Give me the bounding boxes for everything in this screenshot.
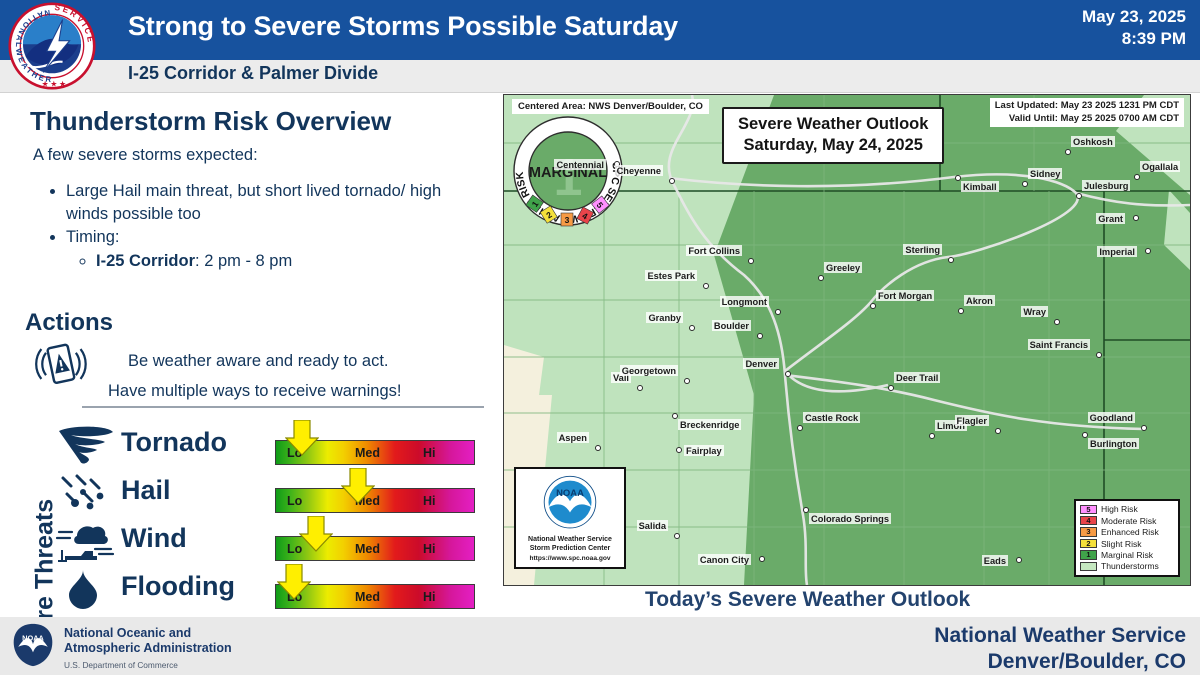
map-title-line1: Severe Weather Outlook — [738, 114, 928, 135]
city-label: Denver — [743, 358, 779, 369]
legend-label: Marginal Risk — [1101, 550, 1153, 560]
city-label: Centennial — [554, 159, 606, 170]
city-label: Akron — [964, 295, 995, 306]
bullet-text: : 2 pm - 8 pm — [195, 252, 292, 270]
threat-level-arrow — [285, 420, 319, 456]
office-line-2: Denver/Boulder, CO — [934, 649, 1186, 675]
last-updated-text: Last Updated: May 23 2025 1231 PM CDT — [995, 100, 1179, 113]
city-dot-icon — [637, 385, 643, 391]
threat-row-flooding: Flooding Lo Med Hi — [55, 568, 485, 612]
threat-scale: Lo Med Hi — [275, 478, 475, 511]
city-dot-icon — [1054, 319, 1060, 325]
city-label: Georgetown — [620, 365, 678, 376]
agency-subline: U.S. Department of Commerce — [64, 658, 232, 673]
city-label: Kimball — [961, 181, 999, 192]
legend-row: 5High Risk — [1080, 504, 1174, 515]
map-title-box: Severe Weather Outlook Saturday, May 24,… — [722, 107, 944, 164]
overview-bullet-list: Large Hail main threat, but short lived … — [44, 180, 484, 273]
overview-lead: A few severe storms expected: — [33, 146, 258, 165]
scale-tick-med: Med — [355, 590, 380, 604]
city-label: Salida — [637, 520, 668, 531]
city-label: Sidney — [1028, 168, 1062, 179]
legend-swatch: 3 — [1080, 527, 1097, 537]
city-label: Burlington — [1088, 438, 1139, 449]
scale-tick-hi: Hi — [423, 542, 436, 556]
city-label: Oshkosh — [1071, 136, 1115, 147]
city-label: Imperial — [1097, 246, 1137, 257]
city-dot-icon — [748, 258, 754, 264]
stamp-date: May 23, 2025 — [1082, 6, 1186, 28]
legend-label: Thunderstorms — [1101, 561, 1159, 571]
legend-label: Moderate Risk — [1101, 516, 1156, 526]
city-label: Goodland — [1088, 412, 1135, 423]
threat-level-arrow — [341, 468, 375, 504]
legend-swatch: 4 — [1080, 516, 1097, 526]
overview-heading: Thunderstorm Risk Overview — [30, 106, 391, 137]
city-dot-icon — [669, 178, 675, 184]
legend-label: Enhanced Risk — [1101, 527, 1159, 537]
threat-row-wind: Wind Lo Med Hi — [55, 520, 485, 564]
city-label: Granby — [646, 312, 683, 323]
threat-row-hail: Hail Lo Med Hi — [55, 472, 485, 516]
divider — [82, 406, 484, 408]
city-dot-icon — [1096, 352, 1102, 358]
city-label: Sterling — [903, 244, 942, 255]
scale-tick-hi: Hi — [423, 494, 436, 508]
threat-name: Flooding — [121, 571, 235, 602]
city-dot-icon — [1145, 248, 1151, 254]
scale-tick-lo: Lo — [287, 494, 302, 508]
city-dot-icon — [995, 428, 1001, 434]
city-dot-icon — [1133, 215, 1139, 221]
city-label: Fort Morgan — [876, 290, 934, 301]
noaa-seal-icon: NOAA — [10, 622, 56, 668]
city-label: Ogallala — [1140, 161, 1180, 172]
bullet-text: Timing: — [66, 228, 119, 246]
city-label: Breckenridge — [678, 419, 741, 430]
city-label: Colorado Springs — [809, 513, 891, 524]
legend-label: Slight Risk — [1101, 539, 1142, 549]
legend-row: 2Slight Risk — [1080, 538, 1174, 549]
city-dot-icon — [929, 433, 935, 439]
city-label: Fairplay — [684, 445, 724, 456]
city-dot-icon — [689, 325, 695, 331]
map-caption: Today’s Severe Weather Outlook — [645, 588, 970, 612]
city-dot-icon — [1065, 149, 1071, 155]
city-label: Aspen — [557, 432, 589, 443]
legend-label: High Risk — [1101, 504, 1138, 514]
list-item: Timing: — [66, 226, 484, 249]
stamp-time: 8:39 PM — [1082, 28, 1186, 50]
city-dot-icon — [674, 533, 680, 539]
threat-row-tornado: Tornado Lo Med Hi — [55, 424, 485, 468]
city-dot-icon — [1022, 181, 1028, 187]
page-subtitle: I-25 Corridor & Palmer Divide — [128, 63, 378, 84]
city-label: Canon City — [698, 554, 751, 565]
city-dot-icon — [1134, 174, 1140, 180]
bullet-text: Large Hail main threat, but short lived … — [66, 182, 441, 223]
city-dot-icon — [676, 447, 682, 453]
tornado-icon — [55, 424, 117, 466]
threat-scale: Lo Med Hi — [275, 574, 475, 607]
spc-line1: National Weather Service — [516, 535, 624, 545]
threat-name: Wind — [121, 523, 187, 554]
city-dot-icon — [1016, 557, 1022, 563]
scale-tick-hi: Hi — [423, 446, 436, 460]
map-centered-note: Centered Area: NWS Denver/Boulder, CO — [512, 99, 709, 114]
spc-url: https://www.spc.noaa.gov — [516, 554, 624, 564]
city-dot-icon — [958, 308, 964, 314]
legend-row: 4Moderate Risk — [1080, 515, 1174, 526]
city-dot-icon — [703, 283, 709, 289]
svg-text:★: ★ — [50, 79, 57, 88]
timestamp: May 23, 2025 8:39 PM — [1082, 6, 1186, 50]
city-label: Longmont — [720, 296, 769, 307]
city-label: Castle Rock — [803, 412, 860, 423]
list-item: Large Hail main threat, but short lived … — [66, 180, 484, 226]
threat-scale: Lo Med Hi — [275, 526, 475, 559]
action-text-1: Be weather aware and ready to act. — [128, 352, 389, 371]
threat-name: Tornado — [121, 427, 227, 458]
threat-level-arrow — [277, 564, 311, 600]
city-label: Wray — [1021, 306, 1048, 317]
map-title-line2: Saturday, May 24, 2025 — [738, 135, 928, 156]
legend-swatch — [1080, 562, 1097, 572]
city-label: Estes Park — [645, 270, 697, 281]
scale-tick-med: Med — [355, 446, 380, 460]
city-label: Flagler — [955, 415, 989, 426]
city-dot-icon — [818, 275, 824, 281]
hail-icon — [55, 472, 117, 514]
svg-text:★: ★ — [59, 79, 66, 88]
legend-row: 3Enhanced Risk — [1080, 526, 1174, 537]
nws-roundel-icon: S E R V I C E N A T I O N A L W E A T H … — [8, 2, 96, 90]
city-dot-icon — [797, 425, 803, 431]
city-label: Fort Collins — [686, 245, 742, 256]
legend-swatch: 1 — [1080, 550, 1097, 560]
legend-row: 1Marginal Risk — [1080, 549, 1174, 560]
legend-row: Thunderstorms — [1080, 561, 1174, 572]
actions-heading: Actions — [25, 309, 113, 337]
bullet-bold: I-25 Corridor — [96, 252, 195, 270]
action-text-2: Have multiple ways to receive warnings! — [108, 382, 401, 401]
city-dot-icon — [785, 371, 791, 377]
city-dot-icon — [888, 385, 894, 391]
noaa-agency-text: National Oceanic and Atmospheric Adminis… — [64, 626, 232, 673]
water-drop-icon — [55, 568, 117, 610]
city-dot-icon — [595, 445, 601, 451]
scale-tick-med: Med — [355, 542, 380, 556]
severe-weather-outlook-map[interactable]: Centered Area: NWS Denver/Boulder, CO La… — [503, 94, 1191, 586]
spc-noaa-box: NOAA National Weather Service Storm Pred… — [514, 467, 626, 569]
city-label: Deer Trail — [894, 372, 940, 383]
list-item: I-25 Corridor: 2 pm - 8 pm — [96, 250, 484, 273]
noaa-seal-icon: NOAA — [527, 472, 613, 534]
office-line-1: National Weather Service — [934, 623, 1186, 649]
svg-text:NOAA: NOAA — [22, 633, 44, 642]
scale-tick-hi: Hi — [423, 590, 436, 604]
city-label: Eads — [982, 555, 1008, 566]
left-panel: Thunderstorm Risk Overview A few severe … — [0, 94, 500, 614]
spc-line2: Storm Prediction Center — [516, 544, 624, 554]
svg-text:NOAA: NOAA — [556, 488, 584, 499]
city-dot-icon — [775, 309, 781, 315]
map-updated-block: Last Updated: May 23 2025 1231 PM CDT Va… — [990, 98, 1184, 127]
issuing-office: National Weather Service Denver/Boulder,… — [934, 623, 1186, 675]
city-label: Saint Francis — [1028, 339, 1090, 350]
threat-scale: Lo Med Hi — [275, 430, 475, 463]
city-label: Boulder — [712, 320, 751, 331]
page-title: Strong to Severe Storms Possible Saturda… — [128, 11, 678, 42]
map-legend: 5High Risk4Moderate Risk3Enhanced Risk2S… — [1074, 499, 1180, 577]
svg-text:★: ★ — [41, 79, 48, 88]
city-dot-icon — [1076, 193, 1082, 199]
agency-line-2: Atmospheric Administration — [64, 641, 232, 656]
spc-risk-badge: 1 SPC SEVERE WEATHER RISK MARGINAL 1 2 3… — [512, 115, 624, 227]
city-label: Cheyenne — [615, 165, 663, 176]
city-dot-icon — [759, 556, 765, 562]
city-dot-icon — [870, 303, 876, 309]
svg-text:3: 3 — [565, 215, 570, 225]
wind-icon — [55, 520, 117, 562]
valid-until-text: Valid Until: May 25 2025 0700 AM CDT — [995, 113, 1179, 126]
legend-swatch: 5 — [1080, 505, 1097, 515]
city-label: Julesburg — [1082, 180, 1130, 191]
legend-swatch: 2 — [1080, 539, 1097, 549]
city-dot-icon — [757, 333, 763, 339]
city-dot-icon — [1141, 425, 1147, 431]
threat-level-arrow — [299, 516, 333, 552]
city-dot-icon — [948, 257, 954, 263]
phone-alert-icon — [32, 340, 88, 388]
threat-name: Hail — [121, 475, 171, 506]
agency-line-1: National Oceanic and — [64, 626, 232, 641]
city-label: Greeley — [824, 262, 862, 273]
city-label: Grant — [1096, 213, 1125, 224]
city-dot-icon — [684, 378, 690, 384]
spc-box-text: National Weather Service Storm Predictio… — [516, 535, 624, 564]
